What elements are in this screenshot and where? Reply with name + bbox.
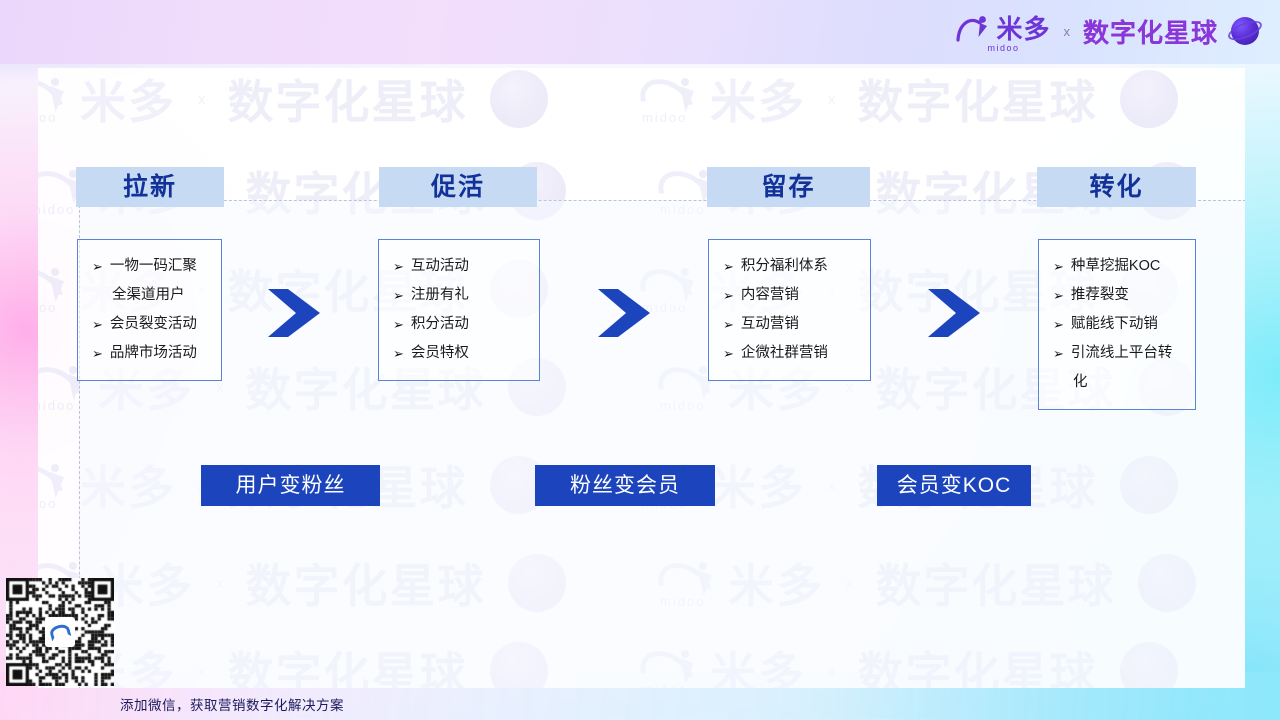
planet-icon xyxy=(1228,14,1262,48)
arrow-bullet-icon: ➢ xyxy=(1053,339,1064,368)
list-item: ➢互动营销 xyxy=(723,310,858,339)
list-item: ➢会员特权 xyxy=(393,339,527,368)
midoo-bird-icon xyxy=(956,13,990,43)
column-title: 留存 xyxy=(707,167,870,207)
stage-banner[interactable]: 用户变粉丝 xyxy=(201,465,380,506)
list-item: ➢赋能线下动销 xyxy=(1053,310,1183,339)
arrow-bullet-icon: ➢ xyxy=(1053,310,1064,339)
arrow-bullet-icon: ➢ xyxy=(723,310,734,339)
qr-center-logo xyxy=(45,617,75,647)
list-item-continuation: 全渠道用户 xyxy=(92,281,209,310)
watermark-tile: midoo米多x数字化星球 xyxy=(638,68,1178,132)
list-item: ➢会员裂变活动 xyxy=(92,310,209,339)
list-item-label: 注册有礼 xyxy=(411,281,527,310)
list-item-label: 品牌市场活动 xyxy=(110,339,209,368)
midoo-logo: 米多 midoo xyxy=(956,9,1050,53)
arrow-bullet-icon: ➢ xyxy=(393,339,404,368)
list-item: ➢引流线上平台转 xyxy=(1053,339,1183,368)
watermark-bird-icon: midoo xyxy=(638,76,698,122)
list-item-label: 全渠道用户 xyxy=(112,281,209,310)
watermark-text-1: 米多 xyxy=(80,68,176,132)
list-item-label: 积分福利体系 xyxy=(741,252,858,281)
logo-separator-x: x xyxy=(1063,24,1070,39)
list-item-label: 内容营销 xyxy=(741,281,858,310)
arrow-bullet-icon: ➢ xyxy=(393,252,404,281)
stage-banner[interactable]: 粉丝变会员 xyxy=(535,465,715,506)
brand-logo: 米多 midoo x 数字化星球 xyxy=(956,10,1262,52)
arrow-bullet-icon: ➢ xyxy=(723,281,734,310)
slide-background: 米多 midoo x 数字化星球 midoo米多x数字化星球midoo米多x数字… xyxy=(0,0,1280,720)
column-title: 转化 xyxy=(1037,167,1196,207)
funnel-column: 留存➢积分福利体系➢内容营销➢互动营销➢企微社群营销 xyxy=(707,167,870,381)
column-title: 促活 xyxy=(379,167,537,207)
watermark-text-1: 米多 xyxy=(710,68,806,132)
list-item-label: 一物一码汇聚 xyxy=(110,252,209,281)
arrow-bullet-icon: ➢ xyxy=(92,310,103,339)
watermark-bird-icon: midoo xyxy=(38,76,68,122)
list-item-label: 引流线上平台转 xyxy=(1071,339,1183,368)
list-item-label: 企微社群营销 xyxy=(741,339,858,368)
arrow-bullet-icon: ➢ xyxy=(723,339,734,368)
column-item-box: ➢互动活动➢注册有礼➢积分活动➢会员特权 xyxy=(378,239,540,381)
list-item: ➢企微社群营销 xyxy=(723,339,858,368)
column-item-box: ➢种草挖掘KOC➢推荐裂变➢赋能线下动销➢引流线上平台转化 xyxy=(1038,239,1196,410)
chevron-right-icon xyxy=(266,285,324,341)
list-item: ➢种草挖掘KOC xyxy=(1053,252,1183,281)
watermark-x: x xyxy=(198,91,206,108)
arrow-bullet-icon: ➢ xyxy=(393,310,404,339)
list-item-continuation: 化 xyxy=(1053,368,1183,397)
watermark-planet-icon xyxy=(490,70,548,128)
column-item-box: ➢积分福利体系➢内容营销➢互动营销➢企微社群营销 xyxy=(708,239,871,381)
list-item-label: 互动活动 xyxy=(411,252,527,281)
list-item: ➢互动活动 xyxy=(393,252,527,281)
stage-banner[interactable]: 会员变KOC xyxy=(877,465,1031,506)
list-item: ➢内容营销 xyxy=(723,281,858,310)
list-item-label: 化 xyxy=(1073,368,1183,397)
column-title: 拉新 xyxy=(76,167,224,207)
watermark-bird-icon: midoo xyxy=(38,266,68,312)
midoo-logo-mark: 米多 xyxy=(956,9,1050,46)
funnel-column: 拉新➢一物一码汇聚全渠道用户➢会员裂变活动➢品牌市场活动 xyxy=(76,167,224,381)
qr-caption: 添加微信，获取营销数字化解决方案 xyxy=(120,692,344,720)
list-item: ➢注册有礼 xyxy=(393,281,527,310)
watermark-tile: midoo米多x数字化星球 xyxy=(38,68,548,132)
arrow-bullet-icon: ➢ xyxy=(393,281,404,310)
watermark-bird-icon: midoo xyxy=(38,462,68,508)
arrow-bullet-icon: ➢ xyxy=(1053,252,1064,281)
watermark-planet-icon xyxy=(1120,70,1178,128)
list-item-label: 赋能线下动销 xyxy=(1071,310,1183,339)
column-item-box: ➢一物一码汇聚全渠道用户➢会员裂变活动➢品牌市场活动 xyxy=(77,239,222,381)
arrow-bullet-icon: ➢ xyxy=(723,252,734,281)
list-item-label: 互动营销 xyxy=(741,310,858,339)
list-item-label: 会员特权 xyxy=(411,339,527,368)
funnel-column: 促活➢互动活动➢注册有礼➢积分活动➢会员特权 xyxy=(379,167,541,381)
partner-logo-text: 数字化星球 xyxy=(1083,13,1218,50)
chevron-right-icon xyxy=(596,285,654,341)
arrow-bullet-icon: ➢ xyxy=(92,339,103,368)
chevron-right-icon xyxy=(926,285,984,341)
list-item: ➢品牌市场活动 xyxy=(92,339,209,368)
content-card: midoo米多x数字化星球midoo米多x数字化星球midoo米多x数字化星球m… xyxy=(38,68,1245,688)
list-item-label: 积分活动 xyxy=(411,310,527,339)
list-item: ➢积分福利体系 xyxy=(723,252,858,281)
midoo-wordmark: midoo xyxy=(987,43,1019,53)
list-item: ➢一物一码汇聚 xyxy=(92,252,209,281)
qr-code[interactable] xyxy=(6,578,114,686)
list-item-label: 推荐裂变 xyxy=(1071,281,1183,310)
midoo-logo-text: 米多 xyxy=(996,9,1050,46)
watermark-text-2: 数字化星球 xyxy=(858,68,1098,132)
watermark-x: x xyxy=(828,91,836,108)
list-item: ➢推荐裂变 xyxy=(1053,281,1183,310)
watermark-text-2: 数字化星球 xyxy=(228,68,468,132)
list-item-label: 会员裂变活动 xyxy=(110,310,209,339)
arrow-bullet-icon: ➢ xyxy=(92,252,103,281)
list-item: ➢积分活动 xyxy=(393,310,527,339)
arrow-bullet-icon: ➢ xyxy=(1053,281,1064,310)
funnel-column: 转化➢种草挖掘KOC➢推荐裂变➢赋能线下动销➢引流线上平台转化 xyxy=(1037,167,1196,410)
list-item-label: 种草挖掘KOC xyxy=(1071,252,1183,281)
